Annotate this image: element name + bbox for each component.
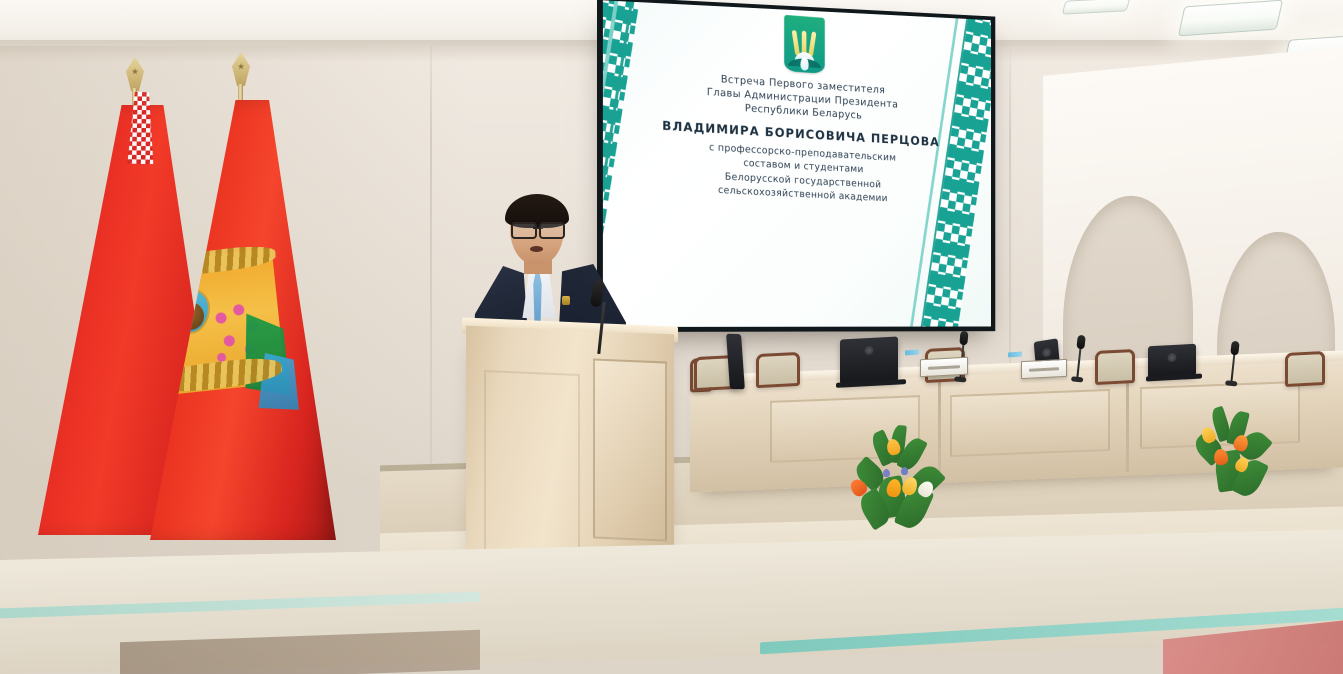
chair <box>756 352 800 388</box>
gorki-academy-emblem-icon <box>784 15 825 74</box>
monitor <box>1148 344 1196 379</box>
desk-card <box>905 350 919 356</box>
chair <box>1095 349 1135 385</box>
mouth <box>530 246 543 252</box>
slide-honoree-name: ВЛАДИМИРА БОРИСОВИЧА ПЕРЦОВА <box>662 117 940 148</box>
presentation-slide: Встреча Первого заместителя Главы Админи… <box>603 0 991 327</box>
wall-seam-right <box>1009 40 1011 370</box>
desk-panel <box>950 389 1110 457</box>
lapel-pin-icon <box>562 296 570 305</box>
drop-icon <box>800 57 808 71</box>
desk-seam <box>1126 372 1129 472</box>
monitor <box>840 336 898 384</box>
small-bloom-icon <box>901 467 908 475</box>
slide-content: Встреча Первого заместителя Главы Админи… <box>656 0 946 327</box>
nameplate <box>1021 359 1067 379</box>
flower-bouquet <box>1190 405 1300 505</box>
lower-third-overlay: МОГИЛЁВСКАЯ ОБЛАСТЬ ВОЗРОЖДЕНИЕ И РАЗВИТ… <box>0 516 1343 674</box>
wall-seam <box>430 0 432 470</box>
podium-panel <box>593 358 667 541</box>
small-bloom-icon <box>883 469 890 477</box>
nameplate <box>920 357 968 378</box>
desk-card <box>1008 352 1022 358</box>
screenshot-root: Встреча Первого заместителя Главы Админи… <box>0 0 1343 674</box>
glasses-icon <box>511 222 565 235</box>
wheat-ear-icon <box>791 30 799 56</box>
chair <box>1285 351 1325 387</box>
